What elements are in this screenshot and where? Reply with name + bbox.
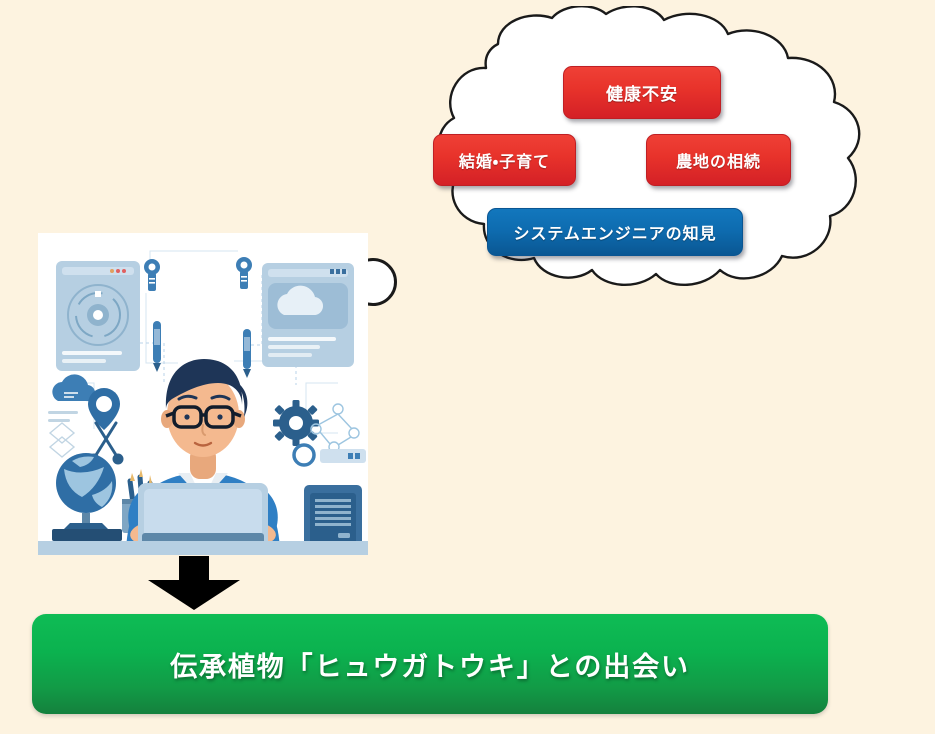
- desk-surface: [38, 541, 368, 555]
- badge-system-engineer-knowledge[interactable]: システムエンジニアの知見: [487, 208, 743, 256]
- badge-marriage-childcare[interactable]: 結婚・子育て: [433, 134, 576, 186]
- green-banner[interactable]: 伝承植物「ヒュウガトウキ」との出会い: [32, 614, 828, 714]
- system-engineer-illustration: [38, 233, 368, 555]
- down-arrow-icon: [148, 556, 240, 610]
- green-banner-label: 伝承植物「ヒュウガトウキ」との出会い: [170, 645, 690, 684]
- badge-farmland-inheritance[interactable]: 農地の相続: [646, 134, 791, 186]
- page-canvas: 健康不安 結婚・子育て 農地の相続 システムエンジニアの知見: [0, 0, 935, 734]
- dashboard-panel-right: [262, 263, 354, 367]
- bubble-badges-container: 健康不安 結婚・子育て 農地の相続 システムエンジニアの知見: [348, 6, 878, 291]
- down-arrow: [148, 556, 240, 610]
- badge-health-anxiety[interactable]: 健康不安: [563, 66, 721, 119]
- code-bar: [320, 449, 366, 463]
- stylus-pen-left: [153, 321, 161, 372]
- illustration-artwork: [38, 233, 368, 555]
- stylus-pen-right: [243, 329, 251, 378]
- thought-bubble: 健康不安 結婚・子育て 農地の相続 システムエンジニアの知見: [348, 6, 878, 291]
- dashboard-panel-left: [56, 261, 140, 371]
